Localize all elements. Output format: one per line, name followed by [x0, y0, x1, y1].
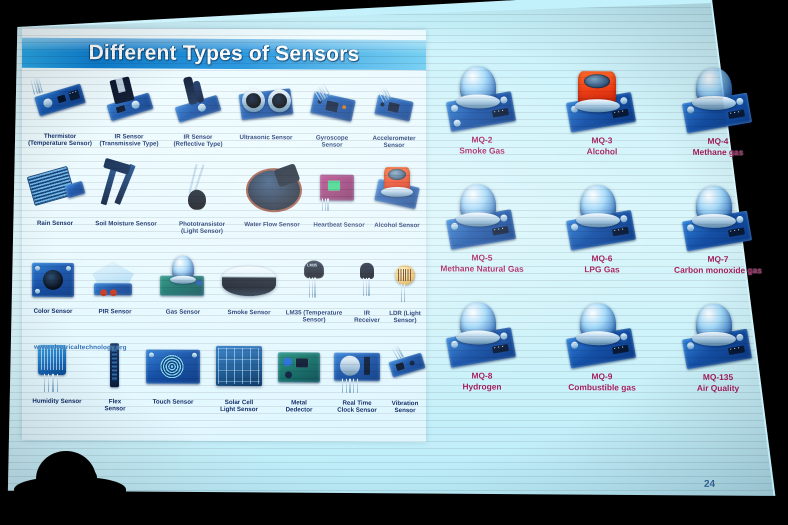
sensor-item-heartbeat: Heartbeat Sensor [308, 160, 370, 229]
mq-label: MQ-135 Air Quality [662, 372, 774, 395]
sensor-label: Ultrasonic Sensor [230, 134, 302, 142]
sensor-row-1: Thermistor (Temperature Sensor) IR Senso… [22, 72, 426, 161]
sensor-item-ir-receiver: IR Receiver [346, 251, 388, 325]
mq-sensor-art [426, 296, 538, 369]
mq-sensor-art [662, 298, 774, 371]
sensor-label: Phototransistor (Light Sensor) [166, 221, 238, 236]
sensor-label: Touch Sensor [138, 398, 208, 406]
sensor-item-thermistor: Thermistor (Temperature Sensor) [22, 74, 98, 148]
mq-sensor-art [426, 178, 538, 251]
mq-item-mq-135: MQ-135 Air Quality [662, 298, 774, 395]
page-number: 24 [704, 479, 715, 490]
sensor-item-alcohol: Alcohol Sensor [368, 161, 426, 230]
mq-row-2: MQ-5 Methane Natural Gas [434, 178, 770, 298]
mq-name: MQ-8 [426, 370, 538, 382]
sensor-label: Gas Sensor [148, 308, 218, 316]
sensor-item-gas: Gas Sensor [148, 249, 218, 316]
sensor-item-ir-reflective: IR Sensor (Reflective Type) [162, 75, 234, 149]
mq-label: MQ-9 Combustible gas [546, 371, 658, 394]
sensor-item-gyroscope: Gyroscope Sensor [300, 75, 364, 149]
sensor-label: Alcohol Sensor [368, 222, 426, 230]
sensor-label: LM35 (Temperature Sensor) [280, 309, 348, 324]
mq-row-1: MQ-2 Smoke Gas M [434, 60, 770, 180]
mq-item-mq-7: MQ-7 Carbon monoxide gas [662, 180, 774, 277]
sensor-label: Gyroscope Sensor [300, 134, 364, 149]
mq-desc: LPG Gas [584, 264, 619, 274]
mq-desc: Smoke Gas [459, 145, 505, 155]
watermark-url: www.electricaltechnology.org [34, 344, 127, 352]
mq-sensor-art [662, 62, 774, 135]
mq-desc: Carbon monoxide gas [674, 265, 762, 276]
mq-item-mq-5: MQ-5 Methane Natural Gas [426, 178, 538, 275]
sensor-label: Accelerometer Sensor [362, 135, 426, 150]
mq-label: MQ-5 Methane Natural Gas [426, 252, 538, 275]
mq-sensor-panel: MQ-2 Smoke Gas M [434, 60, 770, 442]
sensor-row-2: Rain Sensor Soil Moisture Sensor [22, 159, 426, 251]
mq-name: MQ-4 [662, 136, 774, 148]
mq-desc: Methane gas [693, 147, 744, 157]
sensor-label: Soil Moisture Sensor [84, 220, 168, 228]
sensor-label: Vibration Sensor [384, 400, 426, 415]
sensor-label: Rain Sensor [22, 220, 88, 228]
sensor-item-water-flow: Water Flow Sensor [234, 160, 310, 229]
sensor-item-touch: Touch Sensor [138, 337, 208, 406]
page-title: Different Types of Sensors [22, 38, 426, 70]
mq-name: MQ-5 [426, 252, 538, 264]
sensor-label: Real Time Clock Sensor [326, 400, 388, 415]
sensor-item-phototransistor: Phototransistor (Light Sensor) [166, 160, 238, 236]
mq-sensor-art [546, 61, 658, 134]
sensor-label: Water Flow Sensor [234, 221, 310, 229]
sensor-item-ldr: LDR (Light Sensor) [384, 251, 426, 325]
mq-name: MQ-6 [546, 253, 658, 265]
sensor-item-color: Color Sensor [22, 249, 84, 316]
mq-row-3: MQ-8 Hydrogen MQ [434, 296, 770, 416]
sensor-item-lm35: LM35 LM35 (Temperature Sensor) [280, 250, 348, 324]
sensor-item-smoke: Smoke Sensor [216, 250, 282, 317]
mq-label: MQ-7 Carbon monoxide gas [662, 254, 774, 277]
sensor-item-accelerometer: Accelerometer Sensor [362, 76, 426, 150]
mq-name: MQ-135 [662, 372, 774, 384]
sensor-label: Thermistor (Temperature Sensor) [22, 133, 98, 148]
mq-item-mq-8: MQ-8 Hydrogen [426, 296, 538, 393]
sensor-item-rtc: Real Time Clock Sensor [326, 339, 388, 415]
sensor-label: Metal Dedector [270, 399, 328, 414]
mq-desc: Hydrogen [462, 381, 501, 391]
mq-label: MQ-2 Smoke Gas [426, 134, 538, 157]
mq-name: MQ-7 [662, 254, 774, 266]
mq-desc: Combustible gas [568, 382, 635, 392]
mq-desc: Methane Natural Gas [440, 263, 523, 274]
sensor-label: Flex Sensor [90, 398, 140, 413]
sensor-label: Solar Cell Light Sensor [206, 399, 272, 414]
mq-desc: Alcohol [587, 146, 618, 156]
mq-item-mq-4: MQ-4 Methane gas [662, 62, 774, 159]
sensor-item-solar-cell: Solar Cell Light Sensor [206, 338, 272, 414]
mq-item-mq-2: MQ-2 Smoke Gas [426, 60, 538, 157]
sensor-label: LDR (Light Sensor) [384, 310, 426, 325]
mq-sensor-art [546, 297, 658, 370]
mq-sensor-art [662, 180, 774, 253]
sensor-item-ir-transmissive: IR Sensor (Transmissive Type) [92, 74, 166, 148]
mq-label: MQ-8 Hydrogen [426, 370, 538, 393]
sensor-label: Smoke Sensor [216, 309, 282, 317]
mq-desc: Air Quality [697, 383, 739, 393]
mq-label: MQ-6 LPG Gas [546, 253, 658, 276]
mq-name: MQ-3 [546, 135, 658, 147]
mq-name: MQ-2 [426, 134, 538, 146]
sensor-item-rain: Rain Sensor [22, 159, 88, 228]
sensor-label: Color Sensor [22, 308, 84, 316]
mq-item-mq-3: MQ-3 Alcohol [546, 61, 658, 158]
left-sensor-chart-panel: Different Types of Sensors T [22, 28, 426, 442]
slide-canvas: Different Types of Sensors T [14, 20, 776, 503]
sensor-label: PIR Sensor [80, 308, 150, 316]
mq-item-mq-9: MQ-9 Combustible gas [546, 297, 658, 394]
sensor-item-ultrasonic: Ultrasonic Sensor [230, 75, 302, 142]
projected-slide-photo: Different Types of Sensors T [0, 0, 788, 525]
mq-label: MQ-3 Alcohol [546, 135, 658, 158]
sensor-item-soil-moisture: Soil Moisture Sensor [84, 159, 168, 228]
sensor-row-3: Color Sensor PIR Sensor [22, 249, 426, 339]
sensor-label: Heartbeat Sensor [308, 221, 370, 229]
sensor-label: IR Sensor (Transmissive Type) [92, 133, 166, 148]
sensor-label: Humidity Sensor [22, 398, 92, 406]
mq-name: MQ-9 [546, 371, 658, 383]
sensor-item-metal-detector: Metal Dedector [270, 338, 328, 414]
left-sensor-grid: Thermistor (Temperature Sensor) IR Senso… [22, 72, 426, 429]
mq-label: MQ-4 Methane gas [662, 136, 774, 159]
sensor-item-pir: PIR Sensor [80, 249, 150, 316]
sensor-label: IR Sensor (Reflective Type) [162, 134, 234, 149]
sensor-label: IR Receiver [346, 310, 388, 325]
mq-item-mq-6: MQ-6 LPG Gas [546, 179, 658, 276]
mq-sensor-art [426, 60, 538, 133]
mq-sensor-art [546, 179, 658, 252]
sensor-item-vibration: Vibration Sensor [384, 339, 426, 415]
